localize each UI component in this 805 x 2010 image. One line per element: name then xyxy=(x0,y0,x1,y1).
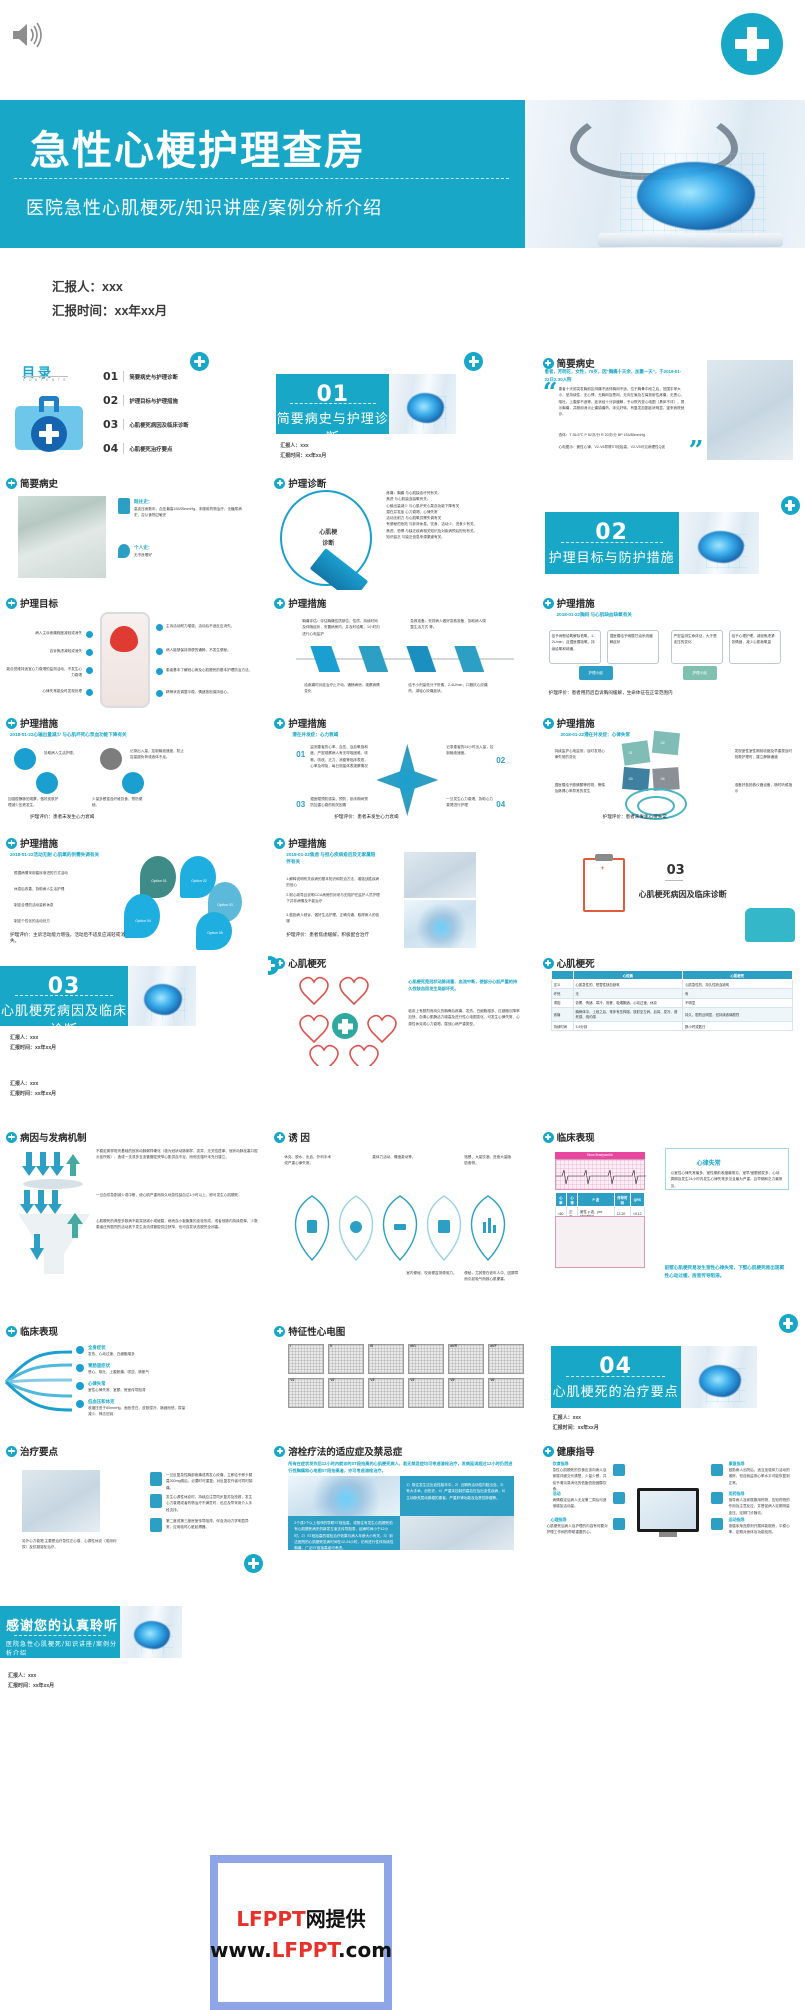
ecg-lead-label: V1 xyxy=(290,1378,294,1384)
slide-heading: 诱 因 xyxy=(288,1130,310,1144)
slide-header: 溶栓疗法的适应症及禁忌症 xyxy=(274,1444,402,1458)
option-label: Option 01 xyxy=(146,878,172,884)
slide-header: 护理措施 xyxy=(543,716,595,730)
slide-header: 健康指导 xyxy=(543,1444,595,1458)
tile-label: 02 xyxy=(661,740,665,746)
treatment-item: 一旦反复急性胸部疼痛或再发心绞痛，立即给予即卡替莫300mg嚼后，必要时可重复；… xyxy=(166,1472,254,1491)
measure-item: 持续监护心电监测，及时发现心律失常的变化 xyxy=(555,748,607,761)
measure-item: 准备好各抢救仪器设备，随时听候指示 xyxy=(735,782,793,795)
slide-heading: 护理措施 xyxy=(288,836,326,850)
case-ecg-note: 心电图示：窦性心律，V2-V6导联ST段抬高，V2-V5可见病理性Q波 xyxy=(559,444,687,450)
ecg-strip-label: Sinus Bradycardia xyxy=(555,1153,645,1159)
mi-compare-table: 心绞痛 心肌梗死 定义 心肌急性的、短暂性缺血缺氧 心肌急性的、持久性缺血缺氧 … xyxy=(551,970,793,1031)
slide-heading: 特征性心电图 xyxy=(288,1324,345,1338)
thumbnail-row: 护理目标 病人主诉疼痛程度减轻或消失 自诉焦虑减轻或消失 能自觉维持适宜心力衰竭… xyxy=(0,590,805,710)
measure-evaluation: 护理评价：主诉活动能力增强，活动后不适反应减轻或消失。 xyxy=(10,932,130,944)
watermark-www: www. xyxy=(210,1938,272,1962)
table-col-header: QRS xyxy=(630,1193,644,1207)
arrhythmia-callout-title: 心律失常 xyxy=(697,1158,721,1167)
measure-item: 3.鼓励病人倾诉、做好生活护理、正确沟通、取得病人的信服 xyxy=(286,912,382,925)
slide-thumbnail-treatment[interactable]: 治疗要点 一旦反复急性胸部疼痛或再发心绞痛，立即给予即卡替莫300mg嚼后，必要… xyxy=(0,1430,268,1550)
guide-text: 病情稳定后病人无足第二周后可逐渐增加活动量。 xyxy=(553,1497,609,1510)
toc-item-number: 02 xyxy=(103,394,118,407)
slide-thumbnail-triggers-icons[interactable]: 室内便秘，咬用便盆排便用力。 便秘，尤其是在老年人中，因屏障而引起吸气而致心肌梗… xyxy=(268,1190,536,1310)
slide-thumbnail-health-guide[interactable]: 健康指导 饮食指导 急性心肌梗死的饮食应该向病人及家属详细交代清楚，少量少餐，并… xyxy=(537,1430,805,1550)
watermark-line-2: www.LFPPT.com xyxy=(210,1938,392,1962)
ecg-lead-label: aVL xyxy=(410,1344,416,1350)
slide-heading: 护理措施 xyxy=(20,836,58,850)
slide-thumbnail-brief-history-detail[interactable]: 简要病史 既往史： 高血压病数年，血压最高155/95mmHg，未服用药物治疗，… xyxy=(0,470,268,590)
fan-lines xyxy=(4,1344,74,1420)
symptom-bullet xyxy=(76,1346,84,1354)
treatment-icon-1 xyxy=(150,1472,162,1486)
goal-left-dot xyxy=(86,631,93,638)
thumbnail-row: 一旦血供急剧减少或中断，使心肌严重而持久地急性缺血达1小时以上，即可发生心肌梗死… xyxy=(0,1190,805,1310)
measure-item-text: 记录患者的24小时出入量，控制输液速度。 xyxy=(446,744,494,757)
thumbnail-row: 目录 CONTENTS 01 简要病史与护理诊断 02 护理目标与护理措施 xyxy=(0,350,805,470)
measure-box-text: 严密监测生命体征，大汗是血压的变化 xyxy=(674,633,720,646)
tile-label: 01 xyxy=(629,750,633,756)
tile-label: 04 xyxy=(661,776,665,782)
medical-cross-icon xyxy=(781,496,800,515)
thrombolysis-top-text: 所有在症状发作后12小时内就诊的ST段抬高的心肌梗死病人，若无禁忌症均可考虑溶栓… xyxy=(288,1460,514,1475)
measure-item: 根据病情采用循序渐进的方式活动 xyxy=(14,870,76,876)
table-cell: 疼痛 xyxy=(551,1007,573,1021)
toc-subtitle: CONTENTS xyxy=(23,378,69,382)
table-cell: 坏死 xyxy=(551,989,573,998)
symptom-text: 收缩压低于80mmHg、面色苍白、皮肤湿冷、脉细而快、尿量减少、神志迟钝 xyxy=(88,1405,188,1418)
measure-number: 04 xyxy=(496,798,505,812)
thrombolysis-photo-1 xyxy=(288,1476,400,1516)
ecg-lead-label: I xyxy=(290,1344,291,1350)
medical-cross-icon xyxy=(274,1326,285,1337)
medical-cross-icon xyxy=(190,352,209,371)
hero-band: 急性心梗护理查房 医院急性心肌梗死/知识讲座/案例分析介绍 xyxy=(0,100,805,248)
treatment-item: 发生心源性休克时，持续应注意同步复苏及抢救，发生心力衰竭或者药物治疗不满意时，也… xyxy=(166,1494,254,1513)
thanks-card: 感谢您的认真聆听 医院急性心肌梗死/知识讲座/案例分析介绍 xyxy=(0,1606,182,1658)
ecg-report-image xyxy=(555,1216,645,1268)
measure-tag-label: 护理小组 xyxy=(581,670,611,676)
toc-item-number: 01 xyxy=(103,370,118,383)
thrombolysis-right-text: 1）既往发生过出血性脑卒中，2）近期有活动性内脏出血，3）有大手术、创伤史，4）… xyxy=(406,1482,508,1501)
slide-thumbnail-mi-overview[interactable]: 心肌梗死 心肌梗死是冠状动脉闭塞、血流中断，使 xyxy=(268,950,536,1070)
past-history-title: 既往史： xyxy=(134,498,152,506)
guide-title: 心理指导 xyxy=(551,1516,567,1523)
thumbnail-row: 汇报人：xxx 汇报时间：xx年xx月 病因与发病机制 xyxy=(0,1070,805,1190)
medical-cross-icon xyxy=(721,13,783,75)
toc-item-1[interactable]: 01 简要病史与护理诊断 xyxy=(103,370,178,383)
goal-right-item: 主诉活动耐力增强，活动后不适反应消失。 xyxy=(166,623,258,629)
slide-header: 护理目标 xyxy=(6,596,58,610)
section-meta: 汇报人：xxx 汇报时间：xx年xx月 xyxy=(553,1414,599,1430)
thanks-date: 汇报时间：xx年xx月 xyxy=(8,1682,54,1692)
guide-title: 康复指导 xyxy=(729,1460,745,1467)
slide-heading: 护理目标 xyxy=(20,596,58,610)
slide-thumbnail-section-03-clipboard[interactable]: + 03 心肌梗死病因及临床诊断 xyxy=(537,830,805,950)
section-date: 汇报时间：xx年xx月 xyxy=(10,1090,56,1100)
medical-cross-icon xyxy=(779,1314,798,1333)
slide-heading: 简要病史 xyxy=(20,476,58,490)
bottle-icon xyxy=(118,498,130,514)
slide-thumbnail-mi-compare[interactable]: 心肌梗死 心绞痛 心肌梗死 定义 心肌急性的、短暂性缺血缺氧 心肌急性的、持久性… xyxy=(537,950,805,1070)
slide-thumbnail-measures-cardiac-output[interactable]: 护理措施 2018-01-22心输出量减少 与心肌坏死心泵血功能下降有关 协助病… xyxy=(0,710,268,830)
guide-icon-4 xyxy=(711,1464,723,1476)
diagnosis-center-label: 心肌梗 诊断 xyxy=(306,528,350,549)
goal-left-dot xyxy=(86,649,93,656)
past-history-text: 高血压病数年，血压最高155/95mmHg，未服用药物治疗，无糖尿病史，否认食物… xyxy=(134,506,244,519)
table-cell: 3-5分钟 xyxy=(573,1021,683,1030)
goal-right-dot xyxy=(156,624,163,631)
toc-item-3[interactable]: 03 心肌梗死病因及临床诊断 xyxy=(103,418,189,431)
guide-text: 急性心肌梗死的饮食应该向病人及家属详细交代清楚，少量少餐，并给予清淡易消化的低脂… xyxy=(553,1467,609,1492)
measure-evaluation: 护理评价：患者用药后自诉胸闷缓解，生命体征在正常范围内 xyxy=(549,690,791,696)
hero-meta: 汇报人：xxx 汇报时间：xx年xx月 xyxy=(52,276,167,324)
medical-cross-icon xyxy=(274,718,285,729)
section-date: 汇报时间：xx年xx月 xyxy=(10,1044,56,1054)
measure-evaluation: 护理评价：患者未发生心律失常 xyxy=(603,814,667,820)
symptom-text: 恶心、呕吐、上腹胀痛、呃逆、肠胀气 xyxy=(88,1369,178,1375)
guide-icon-2 xyxy=(613,1492,625,1504)
ecg-lead-label: V3 xyxy=(370,1378,374,1384)
slide-heading: 护理诊断 xyxy=(288,476,326,490)
heart-cross-pattern xyxy=(292,974,398,1066)
treatment-item: 第二度或第三度房室传导阻滞，伴血流动力学明显异常，应用临时心脏起搏器。 xyxy=(166,1518,254,1531)
guide-text: 心肌梗死后病人及护理的内容有何要对护理工作和的帮助重要的心。 xyxy=(547,1523,609,1536)
doctor-heart-photo xyxy=(404,900,476,948)
diagnosis-item: 知识缺乏 与缺乏信息来源渠道有关。 xyxy=(386,534,526,540)
slide-heading: 溶栓疗法的适应症及禁忌症 xyxy=(288,1444,402,1458)
trigger-item: 休克、脱水、出血、外科手术或严重心律失常。 xyxy=(284,1154,332,1167)
hospital-room-photo xyxy=(18,496,106,578)
thanks-title: 感谢您的认真聆听 xyxy=(6,1615,118,1634)
thrombolysis-left-text: 2个或2个以上相邻的导联ST段抬高，或既往有发生心肌梗死前有心肌梗死病史的新发左… xyxy=(294,1520,394,1550)
medical-cross-icon xyxy=(274,598,285,609)
trigger-item: 饱餐、大量饮酒、进食大量脂肪食物。 xyxy=(464,1154,512,1167)
slide-heading: 治疗要点 xyxy=(20,1444,58,1458)
slide-heading: 临床表现 xyxy=(20,1324,58,1338)
symptom-bullet xyxy=(76,1364,84,1372)
slide-heading: 护理措施 xyxy=(20,716,58,730)
treatment-icon-2 xyxy=(150,1494,162,1508)
table-row: 坏死 无 有 xyxy=(551,989,792,998)
tile-03 xyxy=(622,767,650,791)
trigger-item: 重体力活动、情绪激动等。 xyxy=(372,1154,420,1160)
watermark-line-1: LFPPT网提供 xyxy=(236,1903,365,1932)
hero-presenter: 汇报人：xxx xyxy=(52,276,167,300)
measure-number: 03 xyxy=(296,798,305,812)
guide-title: 用药指导 xyxy=(729,1490,745,1497)
table-row: 持续时间 3-5分钟 数小时或数日 xyxy=(551,1021,792,1030)
guide-icon-6 xyxy=(711,1518,723,1530)
guide-text: 按循序渐进原则开展体能锻炼，平稳心率，定期对身体及功能检测。 xyxy=(729,1523,791,1536)
funnel-diagram xyxy=(12,1190,96,1276)
medical-cross-icon xyxy=(6,1446,17,1457)
slide-thumbnail-measures-activity[interactable]: 护理措施 2018-01-22活动无耐 心肌氧的供需失调有关 根据病情采用循序渐… xyxy=(0,830,268,950)
ecg-lead-tile xyxy=(288,1344,324,1374)
medical-cross-icon xyxy=(274,478,285,489)
measure-item-text: 遵医嘱预防感染，预防，卧床期间预防加重心衰的相关因素 xyxy=(310,796,368,809)
medical-cross-icon xyxy=(543,718,554,729)
measure-item: 遵医嘱给予胺碘酮等药物，警惕及脉搏心率异常的发生 xyxy=(555,782,607,795)
goal-right-item: 精神状态调整平稳，情绪放松保持信心。 xyxy=(166,689,258,695)
slide-header: 心肌梗死 xyxy=(543,956,595,970)
slide-header: 病因与发病机制 xyxy=(6,1130,87,1144)
medical-cross-icon xyxy=(543,958,554,969)
ecg-lead-tile xyxy=(368,1344,404,1374)
measure-subtitle: 2018-01-22心输出量减少 与心肌坏死心泵血功能下降有关 xyxy=(10,732,127,738)
goal-right-item: 病人能够保持排便的通畅，不发生便秘。 xyxy=(166,647,258,653)
section-presenter: 汇报人：xxx xyxy=(553,1414,599,1424)
measure-block-text: 胸痛评估：评估胸痛性质部位、性质，持续时间及伴随症状，安置病房内，并及时给氧，1… xyxy=(302,618,380,637)
option-label: Option 02 xyxy=(186,878,212,884)
table-col-header: 心律 xyxy=(567,1193,578,1207)
measure-evaluation: 护理评价：患者焦虑缓解，积极配合治疗 xyxy=(286,932,374,938)
measure-box-text: 给予间断给氧解除低氧，1-2L/min，且遵医嘱吸氧，持续给氧和疏通。 xyxy=(552,633,598,652)
goal-right-item: 患者基本了解冠心病及心肌梗死的基本护理防治方法。 xyxy=(166,667,258,673)
table-cell: 无 xyxy=(573,989,683,998)
ecg-lead-tile xyxy=(328,1344,364,1374)
slide-thumbnail-section03-meta[interactable]: 汇报人：xxx 汇报时间：xx年xx月 病因与发病机制 xyxy=(0,1070,268,1190)
slide-heading: 临床表现 xyxy=(557,1130,595,1144)
slide-heading: 护理措施 xyxy=(288,716,326,730)
thumbnail-row: 护理措施 2018-01-22心输出量减少 与心肌坏死心泵血功能下降有关 协助病… xyxy=(0,710,805,830)
measure-item: 记录出入量，控制输液速度，防止容量超负荷或液体不足。 xyxy=(130,748,184,761)
thumbnail-row: 感谢您的认真聆听 医院急性心肌梗死/知识讲座/案例分析介绍 汇报人：xxx 汇报… xyxy=(0,1550,805,1710)
personal-history-text: 无不良嗜好 xyxy=(134,552,244,558)
measure-icon-circle-1 xyxy=(14,748,36,770)
measure-item: 协助病人生活护理。 xyxy=(44,750,94,756)
hero-divider xyxy=(14,178,509,179)
measure-evaluation: 护理评价：患者未发生心力衰竭 xyxy=(30,814,94,820)
slide-thumbnail-ecg-table[interactable]: 心率 心律 P 波 传导时间 QRS <60 正常 窦性 p 波，pre, si… xyxy=(537,1190,805,1310)
tile-01 xyxy=(621,740,650,765)
watermark-domain: LFPPT xyxy=(272,1938,338,1962)
slide-thumbnail-triggers[interactable]: 诱 因 休克、脱水、出血、外科手术或严重心律失常。 重体力活动、情绪激动等。 饱… xyxy=(268,1070,536,1190)
quote-open-icon: “ xyxy=(543,384,558,402)
slide-thumbnail-measures-heart-failure[interactable]: 护理措施 潜在并发症：心力衰竭 01 监测患者的心率、血压、及血氧饱和度，严密观… xyxy=(268,710,536,830)
medical-cross-icon xyxy=(464,352,483,371)
medical-cross-icon xyxy=(6,718,17,729)
slide-thumbnail-measures-anxiety[interactable]: 护理措施 2018-01-22焦虑 与担心疾病愈后及无家属陪伴有关 1.解释说明… xyxy=(268,830,536,950)
trigger-item: 便秘，尤其是在老年人中，因屏障而引起吸气而致心肌梗塞。 xyxy=(464,1270,520,1283)
toc-item-label: 护理目标与护理措施 xyxy=(129,397,178,405)
table-row: 疼痛 胸骨体中、上段之后，常伴有压榨感、放射至左肩、后臂、发冷、濒死感、烧灼感 … xyxy=(551,1007,792,1021)
tile-02 xyxy=(652,731,680,756)
guide-icon-5 xyxy=(711,1492,723,1504)
funnel-arrows-diagram xyxy=(18,1150,88,1190)
section-title: 护理目标与防护措施 xyxy=(545,547,679,566)
tile-label: 03 xyxy=(629,776,633,782)
toc-item-number: 04 xyxy=(103,442,118,455)
four-point-star-diagram xyxy=(376,744,438,816)
measure-note: 给疼痛时对症治疗止汗动，通畅病房，观察病情变化 xyxy=(304,682,380,695)
toc-item-label: 简要病史与护理诊断 xyxy=(129,373,178,381)
heart-icon xyxy=(110,626,138,652)
medical-cross-icon xyxy=(6,1326,17,1337)
slide-thumbnail-grid: 目录 CONTENTS 01 简要病史与护理诊断 02 护理目标与护理措施 xyxy=(0,350,805,1710)
section-meta: 汇报人：xxx 汇报时间：xx年xx月 xyxy=(10,1080,56,1099)
slide-thumbnail-toc[interactable]: 目录 CONTENTS 01 简要病史与护理诊断 02 护理目标与护理措施 xyxy=(0,350,268,470)
table-row: 诱因 劳累、情绪、寒冷、饱餐、吸烟酗酒、心动过速、休克 不明显 xyxy=(551,998,792,1007)
medical-cross-icon xyxy=(6,838,17,849)
chevron-1 xyxy=(310,646,340,672)
measure-block-text: 急救准备，安排病人做好急救准备，协助病人调整生活方式 等。 xyxy=(410,618,488,631)
speaker-icon xyxy=(10,20,44,50)
option-label: Option 04 xyxy=(130,918,156,924)
table-col-header: 心率 xyxy=(555,1193,567,1207)
goal-left-item: 能自觉维持适宜心力衰竭的监测活动，不发生心力衰竭 xyxy=(6,666,82,679)
thumbnail-row: 护理措施 2018-01-22活动无耐 心肌氧的供需失调有关 根据病情采用循序渐… xyxy=(0,830,805,950)
slide-thumbnail-thanks[interactable]: 感谢您的认真聆听 医院急性心肌梗死/知识讲座/案例分析介绍 汇报人：xxx 汇报… xyxy=(0,1550,268,1710)
slide-thumbnail-characteristic-ecg[interactable]: 特征性心电图 I II III aVL aVR aVF V1 V2 V3 xyxy=(268,1310,536,1430)
ecg-lead-label: III xyxy=(370,1344,373,1350)
measure-item: 制定个性化的活动处方 xyxy=(14,918,76,924)
section-title: 心肌梗死病因及临床诊断 xyxy=(0,1000,128,1026)
medical-cross-icon xyxy=(274,838,285,849)
medical-cross-icon xyxy=(274,1446,285,1457)
measure-evaluation: 护理评价：患者未发生心力衰竭 xyxy=(334,814,398,820)
guide-title: 饮食指导 xyxy=(553,1460,569,1467)
toc-item-4[interactable]: 04 心肌梗死治疗要点 xyxy=(103,442,172,455)
slide-thumbnail-clinical-symptoms[interactable]: 临床表现 全身症状 发热、心动过速、白细胞增多 胃肠道症状 恶心、呕吐、 xyxy=(0,1310,268,1430)
slide-header: 临床表现 xyxy=(6,1324,58,1338)
measure-subtitle: 2018-01-22焦虑 与担心疾病愈后及无家属陪伴有关 xyxy=(286,852,378,866)
goal-left-item: 自诉焦虑减轻或消失 xyxy=(6,648,82,654)
slide-thumbnail-thrombolysis[interactable]: 溶栓疗法的适应症及禁忌症 所有在症状发作后12小时内就诊的ST段抬高的心肌梗死病… xyxy=(268,1430,536,1550)
measure-number: 02 xyxy=(496,754,505,768)
ambulance-icon xyxy=(745,908,795,942)
option-label: Option 05 xyxy=(202,930,228,936)
slide-header: 特征性心电图 xyxy=(274,1324,345,1338)
medical-cross-icon xyxy=(543,1132,554,1143)
slide-thumbnail-nursing-goal[interactable]: 护理目标 病人主诉疼痛程度减轻或消失 自诉焦虑减轻或消失 能自觉维持适宜心力衰竭… xyxy=(0,590,268,710)
guide-icon-1 xyxy=(613,1464,625,1476)
monitor-stand xyxy=(659,1532,677,1537)
goal-left-item: 病人主诉疼痛程度减轻或消失 xyxy=(6,630,82,636)
slide-thumbnail-measures-chevron[interactable]: 护理措施 胸痛评估：评估胸痛性质部位、性质，持续时间及伴随症状，安置病房内，并及… xyxy=(268,590,536,710)
thumbnail-row: 治疗要点 一旦反复急性胸部疼痛或再发心绞痛，立即给予即卡替莫300mg嚼后，必要… xyxy=(0,1430,805,1550)
slide-thumbnail-brief-history-quote[interactable]: 简要病史 患者，芳明花，女性，76岁，因“胸痛十天余，加重一天”，于2018-0… xyxy=(537,350,805,470)
measure-note: 给予小剂量低分子肝素，2-4U/min，口服抗心绞痛药，减轻心绞痛症状。 xyxy=(408,682,488,695)
chevron-3 xyxy=(406,646,436,672)
thrombolysis-photo-2 xyxy=(400,1516,514,1550)
table-cell: 诱因 xyxy=(551,998,573,1007)
ecg-lead-label: V2 xyxy=(330,1378,334,1384)
measure-icon-circle-3 xyxy=(100,748,122,770)
trigger-item: 室内便秘，咬用便盆排便用力。 xyxy=(406,1270,458,1276)
table-cell: 有 xyxy=(683,989,793,998)
measure-subtitle: 2018-01-22潜在并发症：心律失常 xyxy=(561,732,630,738)
section-title: 心肌梗死的治疗要点 xyxy=(551,1381,681,1400)
section-divider-card: 04 心肌梗死的治疗要点 xyxy=(551,1346,757,1408)
doctor-stethoscope-photo xyxy=(707,360,793,460)
measure-box-text: 给予心理护理，减轻焦虑紧张情绪，减少心肌耗氧量 xyxy=(732,633,778,646)
slide-thumbnail-section-03[interactable]: 03 心肌梗死病因及临床诊断 汇报人：xxx 汇报时间：xx年xx月 xyxy=(0,950,268,1070)
slide-thumbnail-clinical-ecg[interactable]: 临床表现 Sinus Bradycardia 心律失常 以室性心律失常最多，室性… xyxy=(537,1070,805,1190)
table-cell: 心肌急性的、短暂性缺血缺氧 xyxy=(573,980,683,989)
slide-heading: 病因与发病机制 xyxy=(20,1130,87,1144)
section-presenter: 汇报人：xxx xyxy=(10,1080,56,1090)
slide-header: 临床表现 xyxy=(543,1130,595,1144)
slide-header: 护理措施 xyxy=(543,596,595,610)
section-title: 简要病史与护理诊断 xyxy=(276,408,389,434)
section-title: 心肌梗死病因及临床诊断 xyxy=(639,888,727,902)
case-summary-head: 患者，芳明花，女性，76岁，因“胸痛十天余，加重一天”，于2018-01-22日… xyxy=(545,368,685,383)
slide-heading: 健康指导 xyxy=(557,1444,595,1458)
measure-item: 休息后改善，协助病人生活护理 xyxy=(14,886,76,892)
slide-header: 治疗要点 xyxy=(6,1444,58,1458)
section-divider-card: 02 护理目标与防护措施 xyxy=(545,512,759,574)
measure-item: 2.耐心疏导且说明CCU病房的封闭与无陪护在监护人员护理下并非病情及不能治疗 xyxy=(286,892,382,905)
thumbnail-row: 简要病史 既往史： 高血压病数年，血压最高155/95mmHg，未服用药物治疗，… xyxy=(0,470,805,590)
thumbnail-row: 03 心肌梗死病因及临床诊断 汇报人：xxx 汇报时间：xx年xx月 心肌 xyxy=(0,950,805,1070)
toc-item-label: 心肌梗死病因及临床诊断 xyxy=(129,421,188,429)
slide-thumbnail-nursing-diagnosis[interactable]: 护理诊断 心肌梗 诊断 疼痛：胸痛 与心肌缺血坏死有关。 焦虑 与心肌缺血缺氧有… xyxy=(268,470,536,590)
goal-left-dot xyxy=(86,667,93,674)
hero-band-left: 急性心梗护理查房 医院急性心肌梗死/知识讲座/案例分析介绍 xyxy=(0,100,525,248)
table-cell: 定义 xyxy=(551,980,573,989)
guide-text: 鼓励病人出院后，适当加强体力活动的锻炼，但自我监测心率水平可能恢复到正常。 xyxy=(729,1467,791,1486)
slide-thumbnail-measures-arrhythmia[interactable]: 护理措施 2018-01-22潜在并发症：心律失常 持续监护心电监测，及时发现心… xyxy=(537,710,805,830)
doctor-photo-1 xyxy=(404,852,476,898)
slide-thumbnail-etiology-text[interactable]: 一旦血供急剧减少或中断，使心肌严重而持久地急性缺血达1小时以上，即可发生心肌梗死… xyxy=(0,1190,268,1310)
slide-header: 护理措施 xyxy=(6,716,58,730)
thumbnail-row: 临床表现 全身症状 发热、心动过速、白细胞增多 胃肠道症状 恶心、呕吐、 xyxy=(0,1310,805,1430)
toc-item-2[interactable]: 02 护理目标与护理措施 xyxy=(103,394,178,407)
measure-item: 1.解释说明有关疾病的基本知识和防治方法，增强战胜疾病的信心 xyxy=(286,876,382,889)
medical-cross-icon xyxy=(6,598,17,609)
slide-thumbnail-section-01[interactable]: 01 简要病史与护理诊断 汇报人：xxx 汇报时间：xx年xx月 xyxy=(268,350,536,470)
option-label: Option 03 xyxy=(212,902,238,908)
section-presenter: 汇报人：xxx xyxy=(10,1034,56,1044)
measure-subtitle: 2018-01-22活动无耐 心肌氧的供需失调有关 xyxy=(10,852,99,858)
slide-header: 心肌梗死 xyxy=(274,956,326,970)
table-cell: 劳累、情绪、寒冷、饱餐、吸烟酗酒、心动过速、休克 xyxy=(573,998,683,1007)
slide-thumbnail-section-02[interactable]: 02 护理目标与防护措施 xyxy=(537,470,805,590)
etiology-item: 一旦血供急剧减少或中断，使心肌严重而持久地急性缺血达1小时以上，即可发生心肌梗死… xyxy=(96,1192,260,1198)
personal-history-title: 个人史： xyxy=(134,544,152,552)
measure-item: 少量多餐富含纤维饮食，预防便秘。 xyxy=(92,796,144,809)
table-col-header: 心肌梗死 xyxy=(683,971,793,980)
etiology-item: 心肌梗死的典型多数病不能突然减小或破裂，继而血小板聚集的血栓形成，或者冠脉内持续… xyxy=(96,1218,260,1231)
watermark-suffix: 网提供 xyxy=(306,1907,366,1931)
case-summary-body: 患者十天前突发胸前区闷痛不适伴胸闷不适，位于胸骨中段之后，范围手掌大小，呈持续性… xyxy=(559,386,687,417)
medical-cross-icon xyxy=(543,1446,554,1457)
person-icon xyxy=(118,544,130,558)
slide-header: 简要病史 xyxy=(6,476,58,490)
ecg-strip xyxy=(555,1159,645,1190)
ecg-lead-label: aVF xyxy=(490,1344,496,1350)
measure-item-text: 一旦发生心力衰竭，协助心力衰竭进行护理 xyxy=(446,796,494,809)
slide-thumbnail-measures-oxygen[interactable]: 护理措施 2018-01-22胸闷 与心肌缺血缺氧有关 给予间断给氧解除低氧，1… xyxy=(537,590,805,710)
table-cell: 数小时或数日 xyxy=(683,1021,793,1030)
slide-thumbnail-section-04[interactable]: 04 心肌梗死的治疗要点 汇报人：xxx 汇报时间：xx年xx月 xyxy=(537,1310,805,1430)
section-meta: 汇报人：xxx 汇报时间：xx年xx月 xyxy=(280,442,326,461)
watermark-brand: LFPPT xyxy=(236,1907,305,1931)
guide-title: 活动 xyxy=(553,1490,561,1497)
slide-header: 护理措施 xyxy=(274,596,326,610)
section-meta: 汇报人：xxx 汇报时间：xx年xx月 xyxy=(10,1034,56,1053)
slide-heading: 护理措施 xyxy=(557,596,595,610)
thanks-meta: 汇报人：xxx 汇报时间：xx年xx月 xyxy=(8,1672,54,1691)
table-cell: 不明显 xyxy=(683,998,793,1007)
goal-right-dot xyxy=(156,668,163,675)
guide-text: 指导病人及家属服用药物，告知药物的作用及注意反应，并督促病人定期测量血压，定期门… xyxy=(729,1497,791,1516)
treatment-icon-3 xyxy=(150,1518,162,1532)
etiology-item: 不稳定粥样斑块基础的冠状动脉粥样硬化（极为冠状动脉粥样、变异、无关性痉挛、冠状动… xyxy=(96,1148,260,1161)
target-ring-inner xyxy=(637,796,675,816)
measure-icon-circle-4 xyxy=(122,772,144,794)
